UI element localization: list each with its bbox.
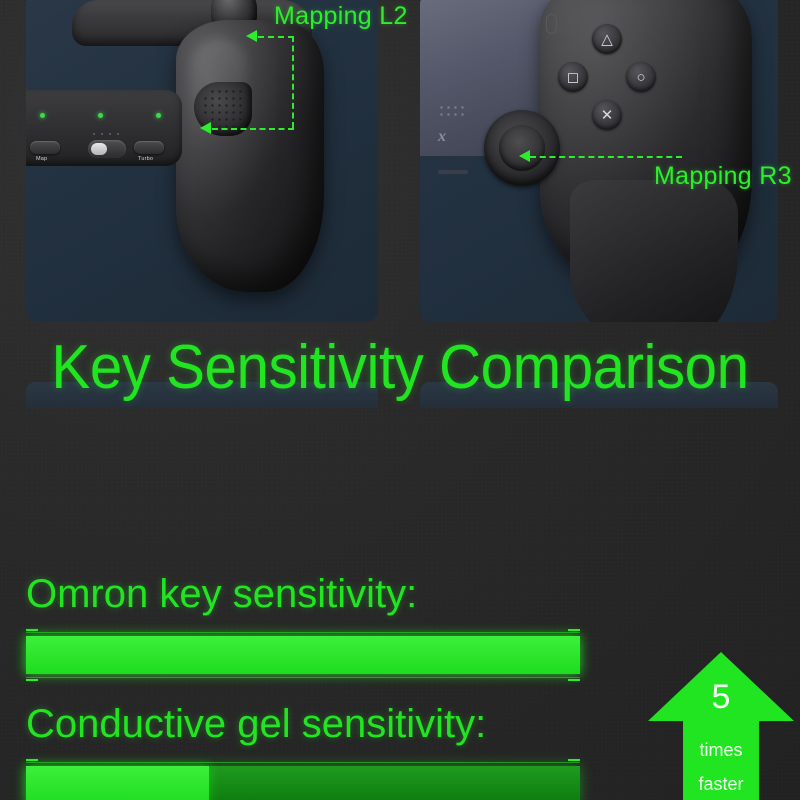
- r3-dash-line: [530, 156, 682, 158]
- cross-button[interactable]: ✕: [592, 100, 622, 130]
- gel-sensitivity-bar: [26, 762, 580, 800]
- omron-sensitivity-label: Omron key sensitivity:: [26, 572, 417, 617]
- playstation-logo-icon: x: [438, 128, 460, 150]
- l2-arrow-head-bottom: [200, 122, 211, 134]
- led-indicator-1: [40, 113, 45, 118]
- turbo-slider-switch[interactable]: [88, 140, 126, 158]
- triangle-button[interactable]: △: [592, 24, 622, 54]
- map-button[interactable]: [30, 141, 60, 154]
- gel-sensitivity-label: Conductive gel sensitivity:: [26, 702, 486, 747]
- badge-number: 5: [648, 678, 794, 717]
- l2-arrow-head-top: [246, 30, 257, 42]
- ps5-speaker-dots: [438, 104, 466, 118]
- circle-button[interactable]: ○: [626, 62, 656, 92]
- l2-dash-bottom: [212, 128, 294, 130]
- r3-arrow-head: [519, 150, 530, 162]
- led-indicator-3: [156, 113, 161, 118]
- ps5-right-stick-cap[interactable]: [499, 125, 545, 171]
- map-button-label: Map: [36, 156, 47, 162]
- omron-bar-tick-bottom: [26, 679, 580, 681]
- turbo-button[interactable]: [134, 141, 164, 154]
- square-button[interactable]: ◻: [558, 62, 588, 92]
- omron-sensitivity-bar: [26, 632, 580, 678]
- led-indicator-2: [98, 113, 103, 118]
- badge-times-label: times: [648, 740, 794, 761]
- page-title: Key Sensitivity Comparison: [24, 332, 776, 403]
- annotation-mapping-l2: Mapping L2: [274, 2, 408, 31]
- gel-bar-tick-top: [26, 759, 580, 761]
- omron-bar-fill: [26, 636, 580, 674]
- product-photo-right: x △ ◻ ○ ✕: [420, 0, 778, 322]
- faster-badge: 5 times faster: [648, 652, 794, 800]
- badge-faster-label: faster: [648, 774, 794, 795]
- annotation-mapping-r3: Mapping R3: [654, 162, 792, 191]
- gel-bar-track: [26, 766, 580, 800]
- omron-bar-tick-top: [26, 629, 580, 631]
- turbo-button-label: Turbo: [138, 156, 153, 162]
- ps5-mic-button[interactable]: [546, 14, 557, 34]
- omron-bar-track: [26, 636, 580, 674]
- turbo-speed-ticks: [90, 132, 124, 136]
- product-photo-left: Map Turbo: [26, 0, 378, 322]
- ps5-right-grip: [570, 180, 738, 322]
- gel-bar-fill: [26, 766, 209, 800]
- ps5-accent-bar: [438, 170, 468, 174]
- l2-dash-top: [258, 36, 294, 38]
- l2-dash-vertical: [292, 36, 294, 128]
